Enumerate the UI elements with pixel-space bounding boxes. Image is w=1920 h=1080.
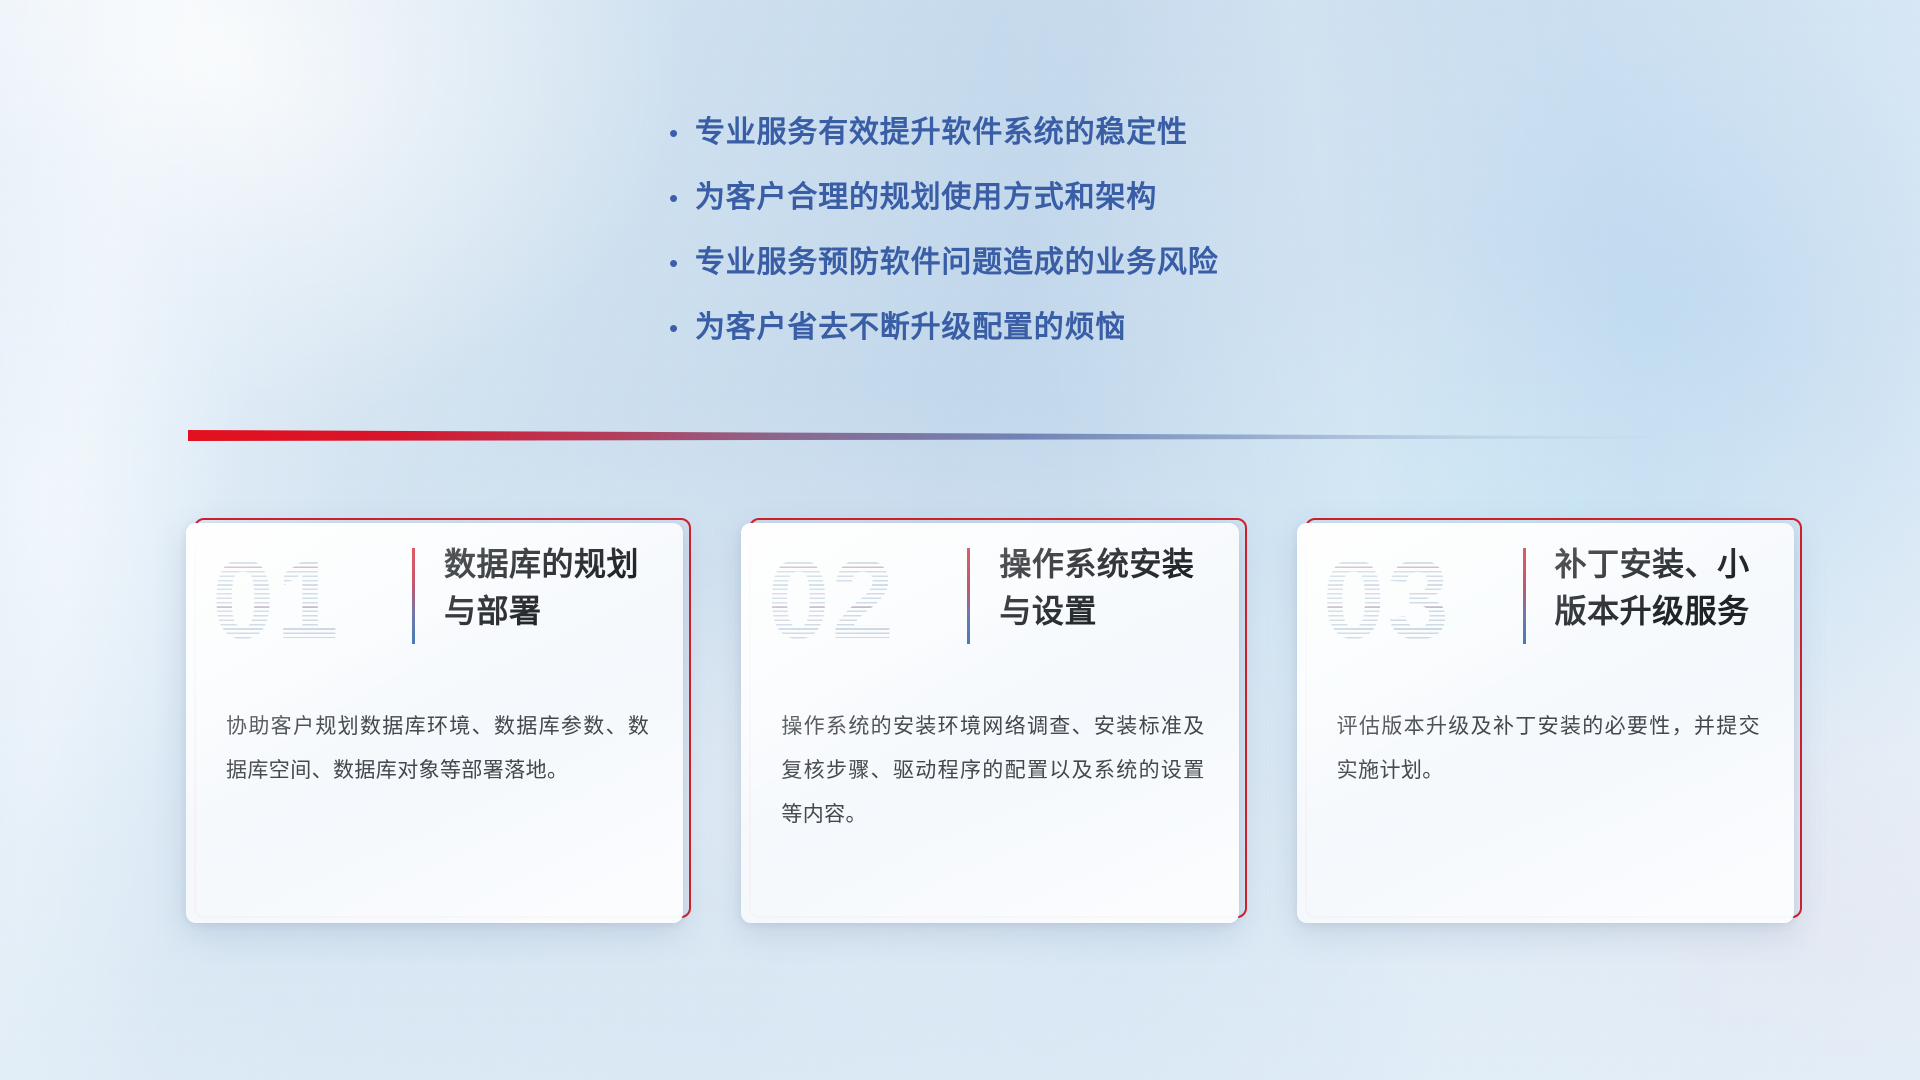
service-card-row: 01 01 数据库的规划与部署 协助客户规划数据库环境、数据库参数、数据库空间、… [186,523,1794,923]
bullet-item: • 为客户合理的规划使用方式和架构 [665,175,1425,240]
card-number-red-overlay: 01 [212,535,402,665]
card-header: 02 02 操作系统安装与设置 [741,523,1238,691]
card-panel: 02 02 操作系统安装与设置 操作系统的安装环境网络调查、安装标准及复核步骤、… [741,523,1238,923]
bullet-text: 为客户合理的规划使用方式和架构 [695,175,1157,221]
bullet-text: 专业服务有效提升软件系统的稳定性 [695,110,1188,156]
section-divider [188,425,1730,447]
slide-canvas: • 专业服务有效提升软件系统的稳定性 • 为客户合理的规划使用方式和架构 • 专… [0,0,1920,1080]
card-number-red-overlay: 02 [767,535,957,665]
benefits-bullet-list: • 专业服务有效提升软件系统的稳定性 • 为客户合理的规划使用方式和架构 • 专… [665,110,1425,370]
card-title-rule [412,548,415,644]
bullet-item: • 为客户省去不断升级配置的烦恼 [665,305,1425,370]
service-card[interactable]: 02 02 操作系统安装与设置 操作系统的安装环境网络调查、安装标准及复核步骤、… [741,523,1238,923]
bullet-item: • 专业服务预防软件问题造成的业务风险 [665,240,1425,305]
bullet-dot-icon: • [665,305,695,351]
card-header: 01 01 数据库的规划与部署 [186,523,683,691]
bullet-dot-icon: • [665,110,695,156]
card-title-rule [967,548,970,644]
card-body-text: 评估版本升级及补丁安装的必要性，并提交实施计划。 [1337,705,1760,793]
card-body-text: 协助客户规划数据库环境、数据库参数、数据库空间、数据库对象等部署落地。 [226,705,649,793]
service-card[interactable]: 03 03 补丁安装、小版本升级服务 评估版本升级及补丁安装的必要性，并提交实施… [1297,523,1794,923]
bullet-dot-icon: • [665,175,695,221]
card-title: 数据库的规划与部署 [444,541,683,635]
card-panel: 01 01 数据库的规划与部署 协助客户规划数据库环境、数据库参数、数据库空间、… [186,523,683,923]
card-body-text: 操作系统的安装环境网络调查、安装标准及复核步骤、驱动程序的配置以及系统的设置等内… [781,705,1204,837]
card-number-red-overlay: 03 [1323,535,1513,665]
bullet-text: 专业服务预防软件问题造成的业务风险 [695,240,1219,286]
bullet-text: 为客户省去不断升级配置的烦恼 [695,305,1126,351]
card-title-rule [1523,548,1526,644]
bullet-dot-icon: • [665,240,695,286]
service-card[interactable]: 01 01 数据库的规划与部署 协助客户规划数据库环境、数据库参数、数据库空间、… [186,523,683,923]
card-panel: 03 03 补丁安装、小版本升级服务 评估版本升级及补丁安装的必要性，并提交实施… [1297,523,1794,923]
card-header: 03 03 补丁安装、小版本升级服务 [1297,523,1794,691]
bullet-item: • 专业服务有效提升软件系统的稳定性 [665,110,1425,175]
card-title: 补丁安装、小版本升级服务 [1555,541,1794,635]
card-title: 操作系统安装与设置 [999,541,1238,635]
section-divider-shape [188,425,1730,447]
